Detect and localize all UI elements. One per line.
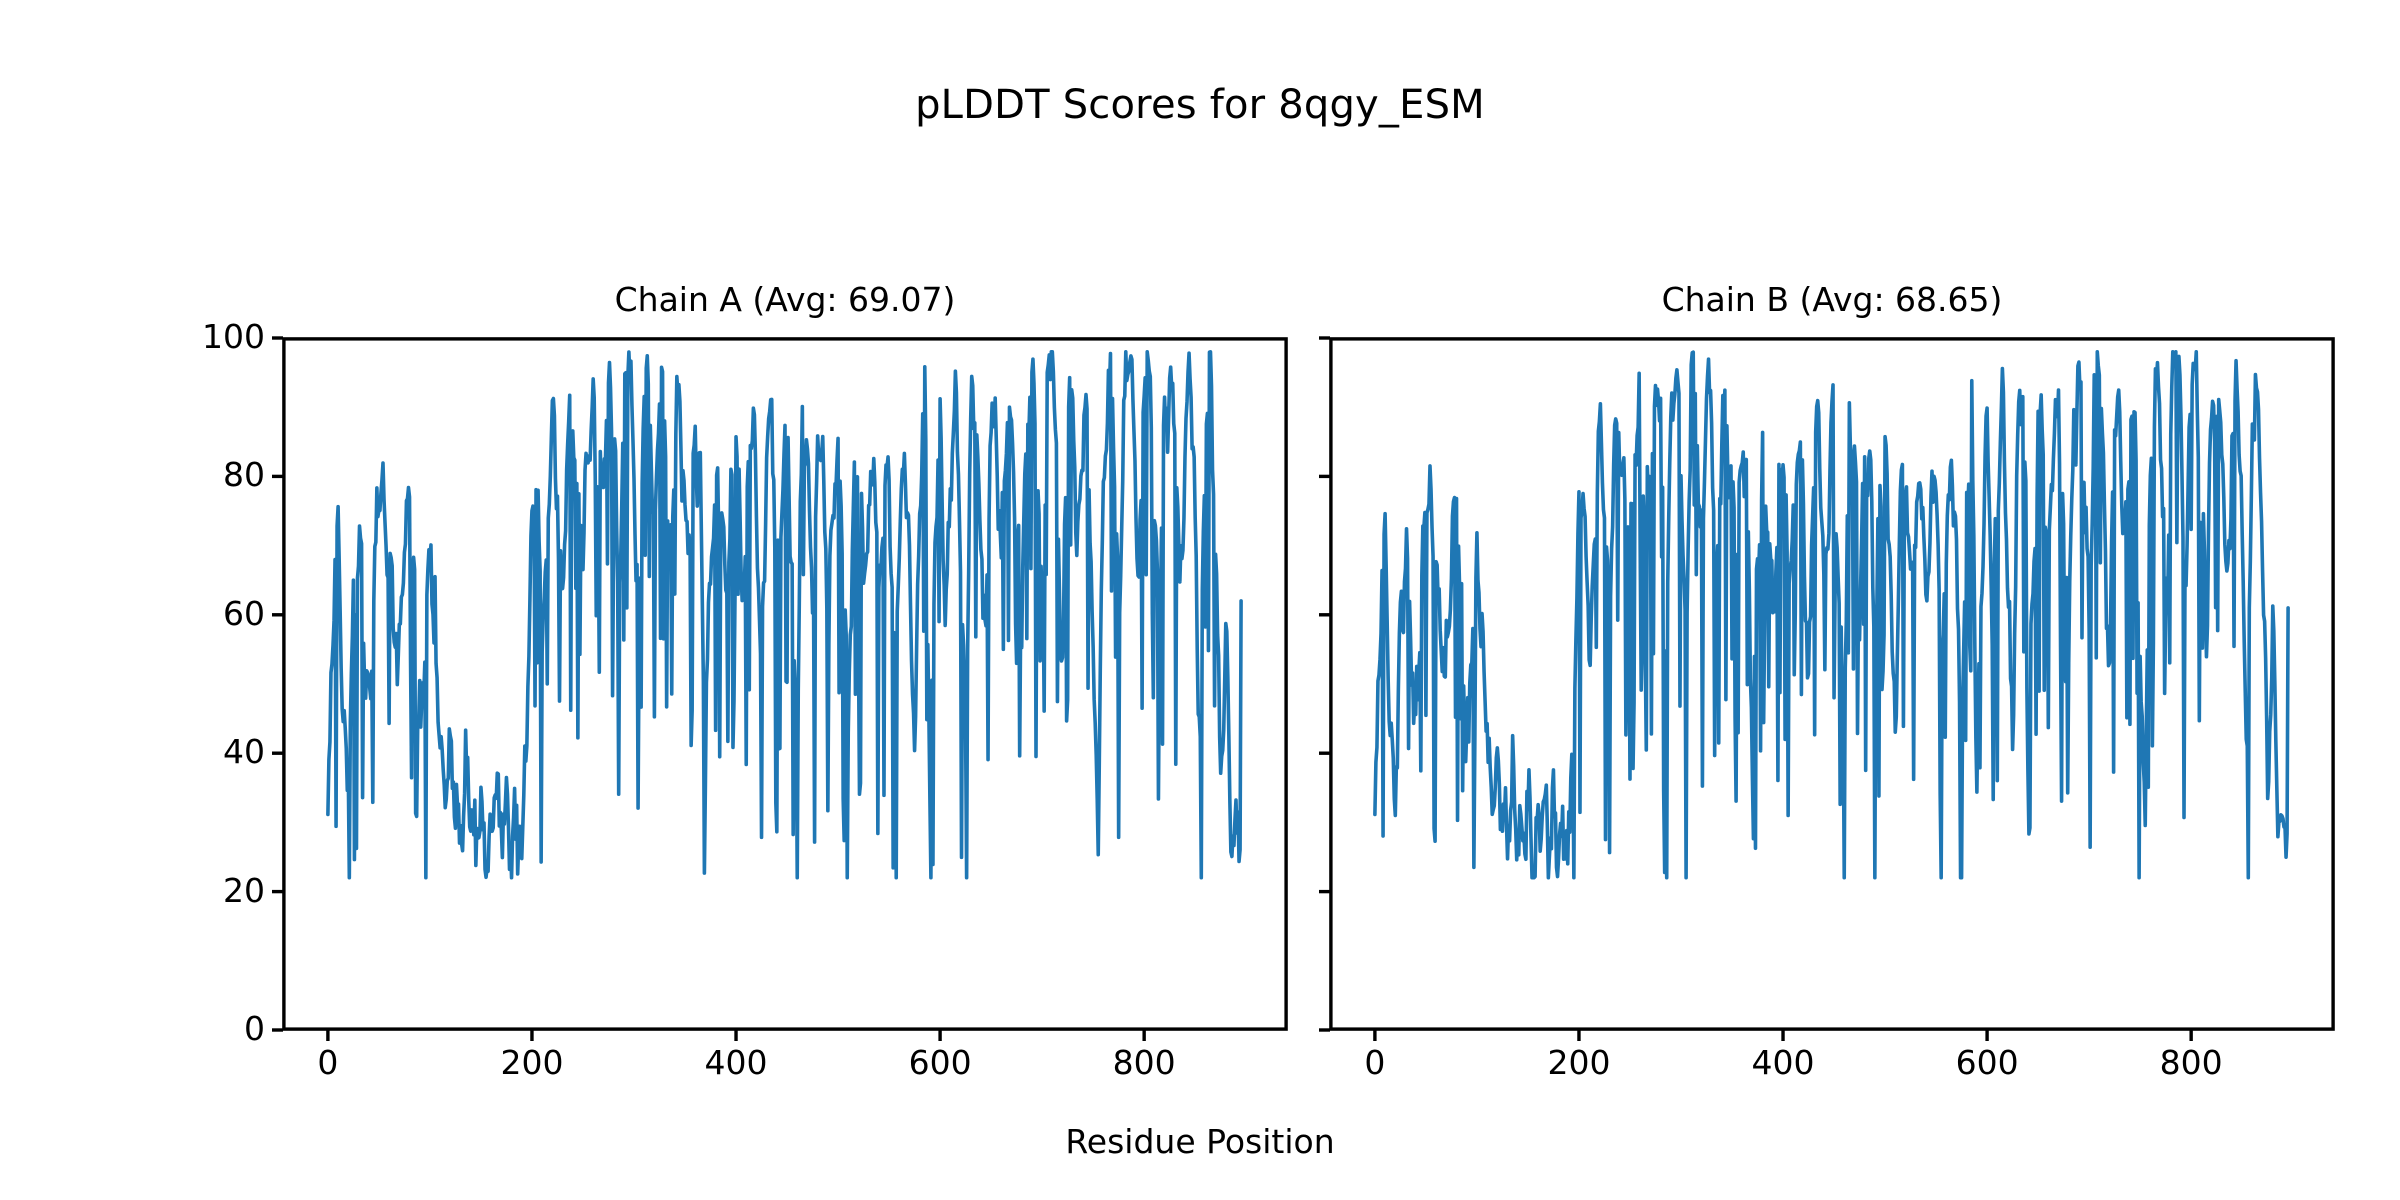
x-tick-label: 0	[1295, 1046, 1455, 1079]
subplot-title-chain-b: Chain B (Avg: 68.65)	[1330, 280, 2334, 319]
x-tick-label: 0	[248, 1046, 408, 1079]
x-tick-label: 200	[452, 1046, 612, 1079]
x-tick-label: 600	[1907, 1046, 2067, 1079]
y-tick-label: 20	[145, 874, 265, 907]
x-tick-label: 600	[860, 1046, 1020, 1079]
y-tick-label: 40	[145, 735, 265, 768]
x-tick-label: 800	[1064, 1046, 1224, 1079]
y-tick-label: 80	[145, 458, 265, 491]
figure-canvas: pLDDT Scores for 8qgy_ESM Chain A (Avg: …	[0, 0, 2400, 1200]
y-tick-label: 100	[145, 320, 265, 353]
x-tick-label: 400	[1703, 1046, 1863, 1079]
y-tick-label: 60	[145, 597, 265, 630]
figure-suptitle: pLDDT Scores for 8qgy_ESM	[0, 82, 2400, 128]
x-tick-label: 400	[656, 1046, 816, 1079]
subplot-title-chain-a: Chain A (Avg: 69.07)	[283, 280, 1287, 319]
y-tick-label: 0	[145, 1012, 265, 1045]
plot-area-chain-a	[283, 338, 1287, 1030]
x-tick-label: 800	[2111, 1046, 2271, 1079]
plot-area-chain-b	[1330, 338, 2334, 1030]
x-axis-label: Residue Position	[0, 1122, 2400, 1161]
x-tick-label: 200	[1499, 1046, 1659, 1079]
